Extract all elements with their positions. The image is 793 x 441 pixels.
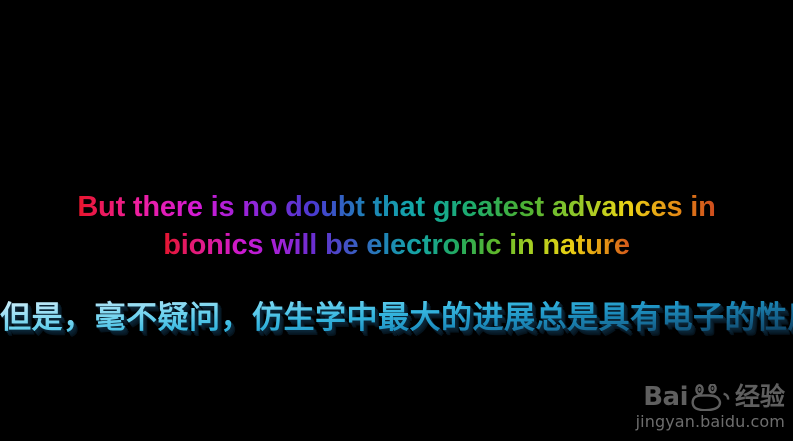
english-subtitle-line-2: bionics will be electronic in nature xyxy=(0,226,793,264)
baidu-paw-icon xyxy=(690,384,730,411)
watermark-brand-text: Bai xyxy=(643,384,688,410)
chinese-subtitle-text: 但是，毫不疑问，仿生学中最大的进展总是具有电子的性质 xyxy=(0,296,793,340)
watermark-logo-row: Bai 经验 xyxy=(636,383,785,411)
english-subtitle: But there is no doubt that greatest adva… xyxy=(0,188,793,264)
chinese-subtitle: 但是，毫不疑问，仿生学中最大的进展总是具有电子的性质 xyxy=(0,296,793,340)
watermark-product-text: 经验 xyxy=(735,384,785,410)
english-subtitle-line-1: But there is no doubt that greatest adva… xyxy=(0,188,793,226)
english-subtitle-line-1-text: But there is no doubt that greatest adva… xyxy=(77,188,715,226)
english-subtitle-line-2-text: bionics will be electronic in nature xyxy=(163,226,630,264)
video-frame: But there is no doubt that greatest adva… xyxy=(0,0,793,441)
baidu-jingyan-watermark: Bai 经验 jingyan.baidu xyxy=(636,383,785,431)
watermark-url-text: jingyan.baidu.com xyxy=(636,413,785,431)
